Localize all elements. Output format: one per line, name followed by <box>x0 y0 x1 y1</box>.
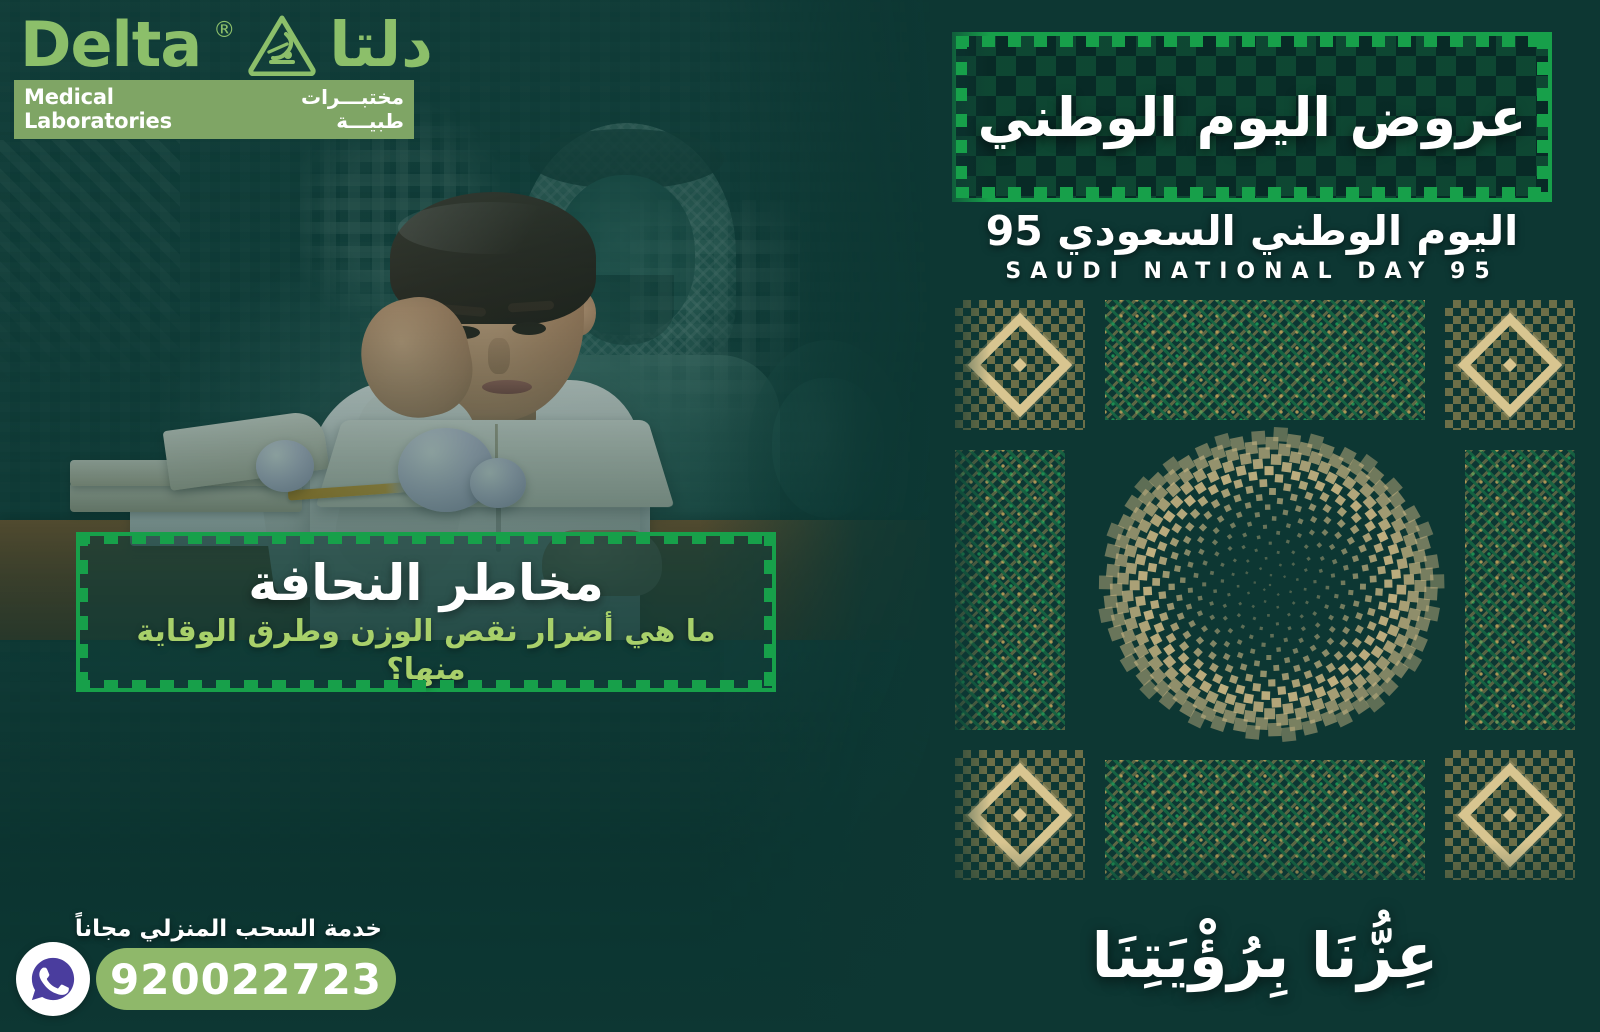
headline-border-right <box>764 532 776 692</box>
offers-banner-title: عروض اليوم الوطني <box>956 36 1548 198</box>
microscope-triangle-icon <box>247 14 317 76</box>
headline-box: مخاطر النحافة ما هي أضرار نقص الوزن وطرق… <box>76 532 776 692</box>
delta-logo[interactable]: Delta ® دلتا Medical Laboratories مختبــ… <box>14 14 414 139</box>
chevron-band <box>1465 450 1575 730</box>
national-day-title-block: اليوم الوطني السعودي 95 SAUDI NATIONAL D… <box>952 208 1552 284</box>
phone-number-button[interactable]: 920022723 <box>96 948 396 1010</box>
gold-spiral-rosette <box>1080 420 1460 750</box>
whatsapp-icon[interactable] <box>16 942 90 1016</box>
logo-wordmark-en: Delta <box>20 16 201 75</box>
wall-motif-block <box>0 140 180 400</box>
sadu-pattern-field <box>955 300 1575 880</box>
national-day-panel: عروض اليوم الوطني اليوم الوطني السعودي 9… <box>930 0 1600 1032</box>
offers-banner-box: عروض اليوم الوطني <box>952 32 1552 202</box>
logo-tagline-ar: مختبـــرات طبيـــة <box>250 85 404 133</box>
boy-eye <box>512 322 546 335</box>
crumpled-paper <box>470 458 526 508</box>
logo-tagline-bar: Medical Laboratories مختبـــرات طبيـــة <box>14 80 414 139</box>
national-day-slogan: عِزُّنَا بِرُؤْيَتِنَا <box>930 919 1600 992</box>
phone-number: 920022723 <box>110 955 382 1004</box>
national-day-title-en: SAUDI NATIONAL DAY 95 <box>952 259 1552 284</box>
registered-mark-icon: ® <box>213 18 235 43</box>
contact-block[interactable]: خدمة السحب المنزلي مجاناً 920022723 <box>16 916 396 1010</box>
home-service-note: خدمة السحب المنزلي مجاناً <box>16 916 382 942</box>
chevron-band <box>1105 760 1425 880</box>
chevron-band <box>955 450 1065 730</box>
page-title: مخاطر النحافة <box>106 556 746 611</box>
headline-border-left <box>76 532 88 692</box>
chevron-band <box>1105 300 1425 420</box>
national-day-title-ar: اليوم الوطني السعودي 95 <box>952 208 1552 255</box>
page-subtitle: ما هي أضرار نقص الوزن وطرق الوقاية منها؟ <box>106 613 746 688</box>
photo-section <box>0 0 960 1032</box>
logo-wordmark-ar: دلتا <box>329 16 433 75</box>
crumpled-paper <box>256 440 314 492</box>
boy-nose <box>488 338 510 374</box>
girl-face <box>772 378 884 518</box>
boy-mouth <box>482 380 532 394</box>
promo-banner: Delta ® دلتا Medical Laboratories مختبــ… <box>0 0 1600 1032</box>
logo-tagline-en: Medical Laboratories <box>24 85 236 133</box>
